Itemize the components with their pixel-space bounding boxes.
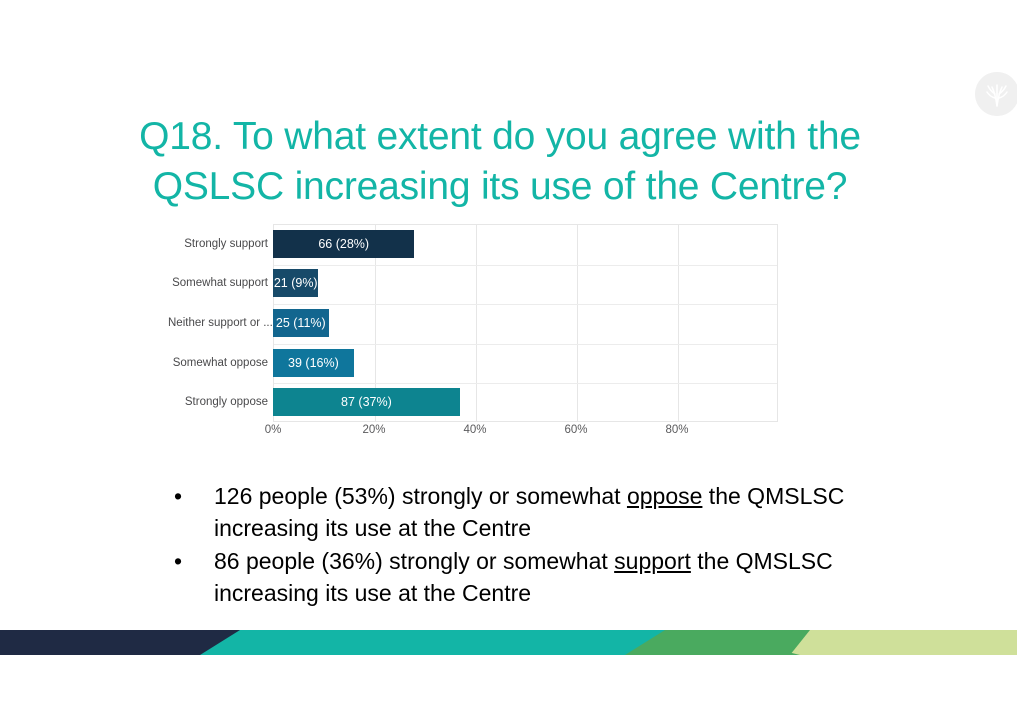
page-title-line-1: Q18. To what extent do you agree with th… [60, 112, 940, 162]
chart-x-tick-label: 80% [665, 424, 688, 436]
chart-bar-track: 21 (9%) [273, 264, 778, 304]
bullet-list: •126 people (53%) strongly or somewhat o… [168, 480, 898, 610]
chart-x-tick-label: 20% [362, 424, 385, 436]
chart-bar[interactable]: 39 (16%) [273, 349, 354, 377]
bullet-text: 86 people (36%) strongly or somewhat sup… [214, 545, 898, 609]
chart-bar-track: 87 (37%) [273, 382, 778, 422]
bullet-text-pre: 86 people (36%) strongly or somewhat [214, 548, 614, 574]
chart-bar-row: Strongly support66 (28%) [168, 224, 780, 264]
bullet-text-emphasis: oppose [627, 483, 702, 509]
footer-segment-navy [0, 630, 240, 655]
chart-category-label: Somewhat oppose [168, 356, 273, 370]
bullet-text-pre: 126 people (53%) strongly or somewhat [214, 483, 627, 509]
chart-bar-track: 39 (16%) [273, 343, 778, 383]
chart-x-tick-label: 40% [463, 424, 486, 436]
bar-chart: Strongly support66 (28%)Somewhat support… [168, 224, 780, 448]
bullet-text-emphasis: support [614, 548, 691, 574]
bullet-text: 126 people (53%) strongly or somewhat op… [214, 480, 898, 544]
bullet-marker-icon: • [168, 545, 214, 577]
chart-x-tick-label: 60% [564, 424, 587, 436]
chart-bar-row: Neither support or ...25 (11%) [168, 303, 780, 343]
chart-x-tick-label: 0% [265, 424, 282, 436]
chart-category-label: Neither support or ... [168, 316, 273, 330]
chart-bar-row: Strongly oppose87 (37%) [168, 382, 780, 422]
chart-category-label: Strongly support [168, 237, 273, 251]
page-title: Q18. To what extent do you agree with th… [60, 112, 940, 212]
footer-segment-teal [185, 630, 665, 655]
bullet-item: •126 people (53%) strongly or somewhat o… [168, 480, 898, 544]
bullet-marker-icon: • [168, 480, 214, 512]
chart-bar[interactable]: 87 (37%) [273, 388, 460, 416]
chart-bar-track: 25 (11%) [273, 303, 778, 343]
chart-bar-track: 66 (28%) [273, 224, 778, 264]
chart-bar-row: Somewhat support21 (9%) [168, 264, 780, 304]
chart-category-label: Strongly oppose [168, 395, 273, 409]
fern-logo-icon [975, 72, 1017, 116]
chart-bar[interactable]: 66 (28%) [273, 230, 414, 258]
chart-bar[interactable]: 21 (9%) [273, 269, 318, 297]
chart-bar[interactable]: 25 (11%) [273, 309, 329, 337]
page-title-line-2: QSLSC increasing its use of the Centre? [60, 162, 940, 212]
chart-bar-row: Somewhat oppose39 (16%) [168, 343, 780, 383]
footer-ribbon [0, 630, 1017, 655]
chart-category-label: Somewhat support [168, 276, 273, 290]
chart-x-axis: 0%20%40%60%80% [273, 424, 778, 444]
bullet-item: •86 people (36%) strongly or somewhat su… [168, 545, 898, 609]
